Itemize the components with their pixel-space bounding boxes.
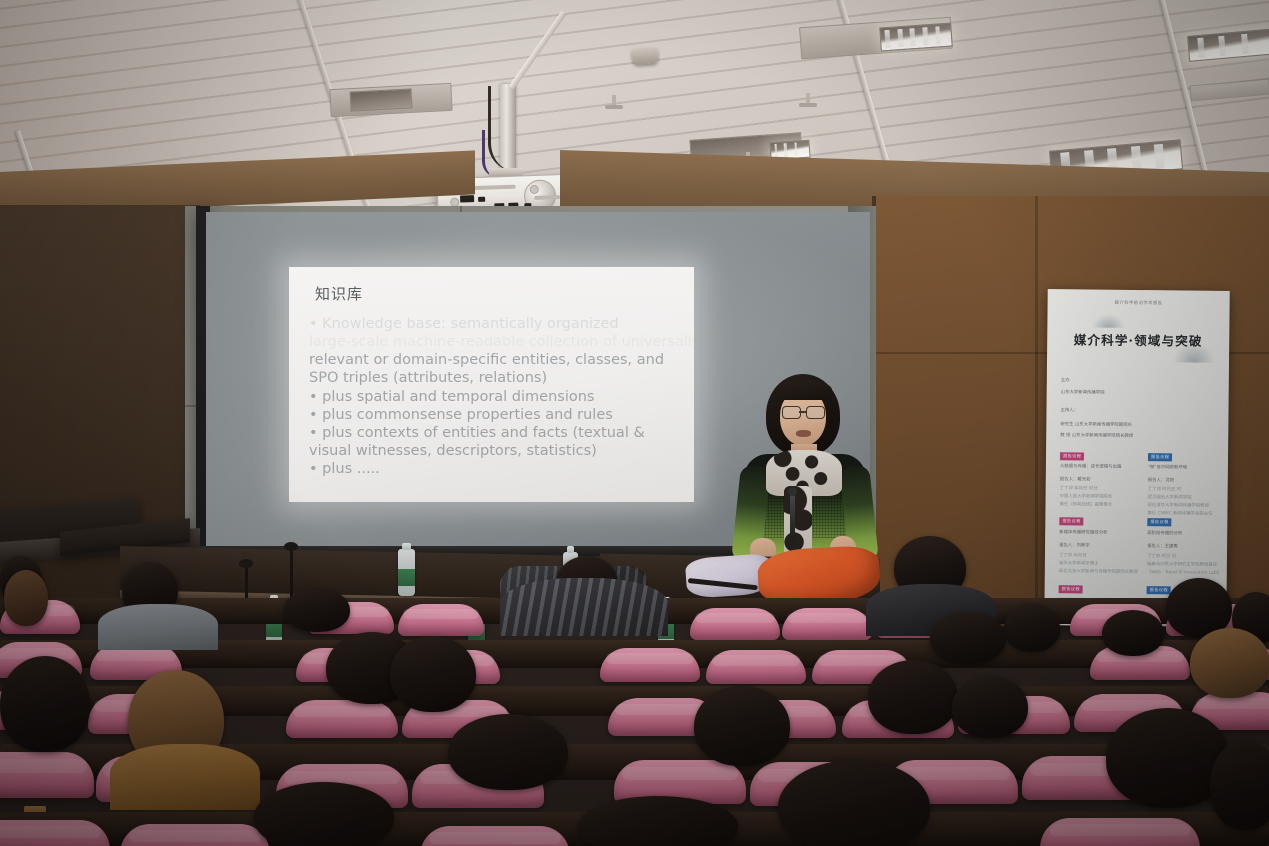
audience-head — [952, 676, 1028, 738]
slide-title: 知识库 — [315, 283, 363, 304]
audience-head — [0, 656, 90, 752]
slide-line: • Knowledge base: semantically organized — [309, 315, 684, 333]
poster-session-detail: 兼任《新闻战线》副理事长 — [1059, 501, 1112, 508]
sprinkler-icon — [612, 95, 616, 107]
poster-session-topic: 新媒体传播研究路径分析 — [1059, 529, 1107, 536]
slide-body: • Knowledge base: semantically organized… — [309, 315, 684, 478]
slide-line: • plus commonsense properties and rules — [309, 406, 684, 424]
poster-session-speaker: 报告人：刘新宇 — [1059, 542, 1090, 548]
projector-port — [460, 195, 474, 202]
poster-session-detail: 现任北京大学新闻与传播学院副院长教授 — [1059, 568, 1138, 575]
seat — [690, 608, 780, 640]
seat — [286, 700, 398, 738]
poster-kicker: 媒介科学前沿学术报告 — [1048, 299, 1230, 307]
slide-content: 知识库 • Knowledge base: semantically organ… — [289, 267, 694, 502]
poster-session-detail: 清华大学新闻学博士 — [1059, 560, 1099, 566]
poster-session-detail: 现任清华大学新闻传播学院教授 — [1147, 502, 1209, 509]
ceiling-light-panel — [350, 88, 413, 111]
poster-title: 媒介科学·领域与突破 — [1047, 329, 1229, 350]
audience-shoulders — [110, 744, 260, 810]
seat — [600, 648, 700, 682]
audience-head — [4, 570, 48, 626]
audience-head — [390, 636, 476, 712]
poster-session-tag: 报告议程 — [1059, 517, 1083, 525]
sprinkler-icon — [806, 93, 810, 105]
poster-session-speaker: 报告人：王建男 — [1147, 543, 1178, 549]
poster-mountain-graphic — [1091, 314, 1125, 328]
audience-head — [448, 714, 568, 790]
poster-session-detail: 《Web · Trend 中 Innovation Lab》 — [1147, 569, 1221, 576]
audience-head — [930, 612, 1006, 664]
audience-head — [868, 660, 958, 734]
poster-session-detail: 兼任 CNNIC 新闻传播学会副主任 — [1147, 510, 1212, 517]
poster-session-detail: 武汉烟台大学新闻学院 — [1148, 494, 1192, 500]
lecture-hall-photo: 知识库 • Knowledge base: semantically organ… — [0, 0, 1269, 846]
audience-head — [694, 686, 790, 766]
wall-seam — [1035, 196, 1038, 626]
poster-session-detail: 了丁卯 时日五 时 — [1148, 486, 1182, 492]
slide-line: SPO triples (attributes, relations) — [309, 369, 684, 387]
desk-microphone — [290, 548, 293, 600]
seat — [1040, 818, 1200, 846]
poster-session-topic: 大数据与传播：成长逻辑与出路 — [1060, 463, 1122, 470]
poster-meta-line: 教 授 山东大学新闻传播学院院长教授 — [1060, 432, 1133, 439]
poster-session-detail: 瑞典马尔默大学研究生学院教授兼任 — [1147, 561, 1217, 568]
water-bottle — [398, 549, 415, 596]
seat — [420, 826, 570, 846]
handheld-microphone — [790, 494, 795, 540]
poster-session-detail: 了丁卯 年月日 时分 — [1060, 485, 1098, 491]
seat — [0, 820, 110, 846]
poster-session-tag: 报告议程 — [1059, 585, 1083, 593]
bottle-label — [398, 569, 415, 586]
poster-session-topic: "微"信中网络新环境 — [1148, 464, 1187, 470]
poster-session-tag: 报告议程 — [1060, 452, 1084, 460]
poster-session-tag: 报告议程 — [1147, 518, 1171, 526]
eyeglasses-bridge — [799, 411, 806, 413]
seat — [0, 752, 94, 798]
poster-session-detail: 了丁卯 年月日 — [1059, 552, 1087, 558]
projector-vent-slot — [534, 195, 560, 200]
slide-line: visual witnesses, descriptors, statistic… — [309, 442, 684, 460]
audience-head — [254, 782, 394, 846]
poster-meta-line: 主办 — [1061, 377, 1070, 383]
smoke-detector-icon — [631, 47, 658, 65]
slide-line: • plus ..... — [309, 460, 684, 478]
audience-head — [1210, 740, 1269, 830]
audience-head — [1190, 628, 1269, 698]
presenter-hair-fringe — [776, 380, 832, 400]
audience-head — [1004, 604, 1060, 652]
seat — [120, 824, 270, 846]
eyeglasses-icon — [782, 406, 801, 419]
poster-session-tag: 报告议程 — [1148, 453, 1172, 461]
bottle-cap — [402, 543, 411, 550]
audience-head — [1102, 610, 1164, 656]
event-poster: 媒介科学前沿学术报告 媒介科学·领域与突破 主办 山东大学新闻传播学院 主持人：… — [1044, 289, 1230, 627]
audience-head — [284, 588, 350, 632]
poster-session-topic: 现阶段传播的分析 — [1147, 530, 1182, 536]
poster-meta-line: 山东大学新闻传播学院 — [1061, 389, 1105, 395]
slide-line: relevant or domain-specific entities, cl… — [309, 351, 684, 369]
slide-line: large-scale machine-readable collection … — [309, 333, 684, 351]
seat — [706, 650, 806, 684]
poster-meta-line: 主持人： — [1060, 407, 1078, 413]
eyeglasses-icon — [806, 406, 825, 419]
presenter-mouth — [796, 430, 811, 437]
poster-session-tag: 报告议程 — [1147, 586, 1171, 594]
seat — [398, 604, 484, 636]
poster-session-speaker: 报告人：戴元初 — [1060, 476, 1091, 482]
slide-line: • plus contexts of entities and facts (t… — [309, 424, 684, 442]
audience-shoulders — [500, 578, 668, 636]
poster-session-speaker: 报告人：沈阳 — [1148, 477, 1174, 483]
slide-line: • plus spatial and temporal dimensions — [309, 388, 684, 406]
seat — [782, 608, 872, 640]
poster-session-detail: 中国人民大学新闻学院院长 — [1060, 493, 1113, 500]
ceiling-light-panel — [879, 23, 952, 52]
projector-port — [478, 197, 485, 202]
audience-shoulders — [98, 604, 218, 650]
poster-session-detail: 了丁卯 时日 月 — [1147, 553, 1176, 559]
bottle-cap — [567, 546, 575, 553]
audience-head — [778, 760, 930, 846]
poster-meta-line: 研究生 山东大学新闻传播学院副院长 — [1060, 421, 1132, 428]
